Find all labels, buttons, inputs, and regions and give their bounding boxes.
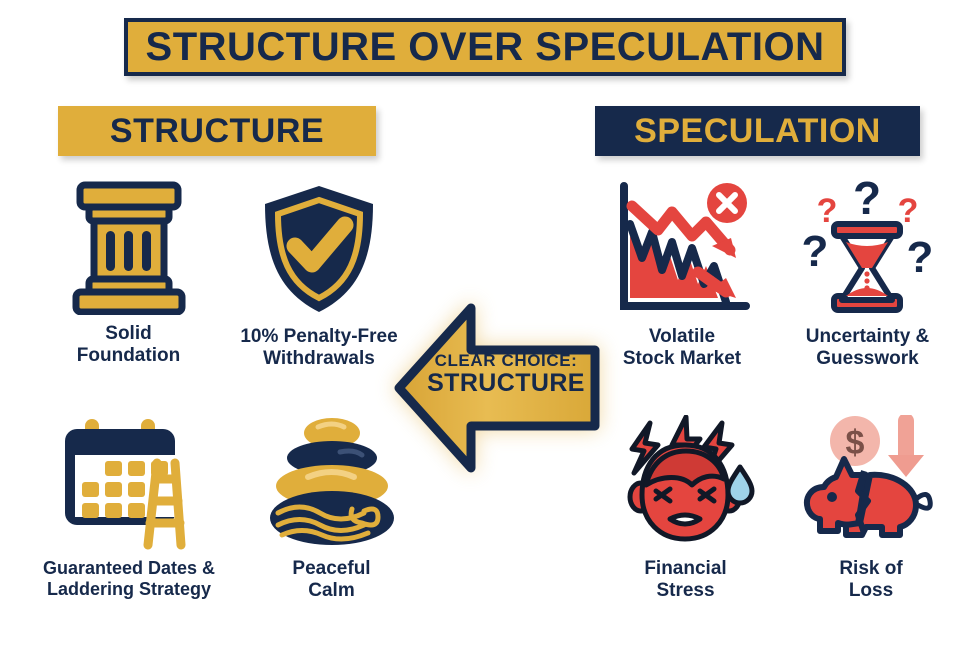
item-label: Risk of Loss: [839, 558, 902, 603]
infographic-canvas: STRUCTURE OVER SPECULATION STRUCTURE SPE…: [0, 0, 977, 651]
header-structure-text: STRUCTURE: [110, 114, 324, 148]
declining-chart-icon: [610, 180, 755, 318]
calendar-ladder-icon: [49, 415, 209, 550]
item-guaranteed-dates-laddering: Guaranteed Dates & Laddering Strategy: [14, 415, 244, 600]
svg-text:?: ?: [907, 233, 934, 282]
svg-text:?: ?: [853, 180, 881, 224]
item-penalty-free-withdrawals: 10% Penalty-Free Withdrawals: [224, 180, 414, 371]
svg-text:$: $: [846, 424, 865, 462]
pillar-icon: [64, 180, 194, 315]
item-uncertainty-guesswork: ? ? ? ? ? Uncertainty & Guesswork: [775, 180, 960, 371]
header-speculation: SPECULATION: [595, 106, 920, 156]
item-risk-of-loss: $ Risk of Loss: [780, 415, 962, 603]
clear-choice-arrow: [393, 298, 601, 478]
item-label: 10% Penalty-Free Withdrawals: [240, 326, 397, 371]
header-structure: STRUCTURE: [58, 106, 376, 156]
item-label: Guaranteed Dates & Laddering Strategy: [43, 558, 215, 600]
hourglass-questions-icon: ? ? ? ? ?: [790, 180, 945, 318]
item-volatile-stock-market: Volatile Stock Market: [592, 180, 772, 371]
item-label: Peaceful Calm: [292, 558, 370, 603]
svg-text:?: ?: [802, 227, 829, 276]
broken-piggy-bank-icon: $: [796, 415, 946, 550]
item-label: Uncertainty & Guesswork: [806, 326, 930, 371]
zen-stones-icon: [268, 415, 396, 550]
item-financial-stress: Financial Stress: [598, 415, 773, 603]
stressed-face-icon: [616, 415, 756, 550]
item-label: Solid Foundation: [77, 323, 180, 368]
page-title: STRUCTURE OVER SPECULATION: [124, 18, 846, 76]
header-speculation-text: SPECULATION: [634, 114, 881, 148]
item-solid-foundation: Solid Foundation: [36, 180, 221, 368]
item-label: Financial Stress: [644, 558, 726, 603]
item-label: Volatile Stock Market: [623, 326, 741, 371]
shield-check-icon: [255, 180, 383, 318]
page-title-text: STRUCTURE OVER SPECULATION: [146, 27, 825, 67]
